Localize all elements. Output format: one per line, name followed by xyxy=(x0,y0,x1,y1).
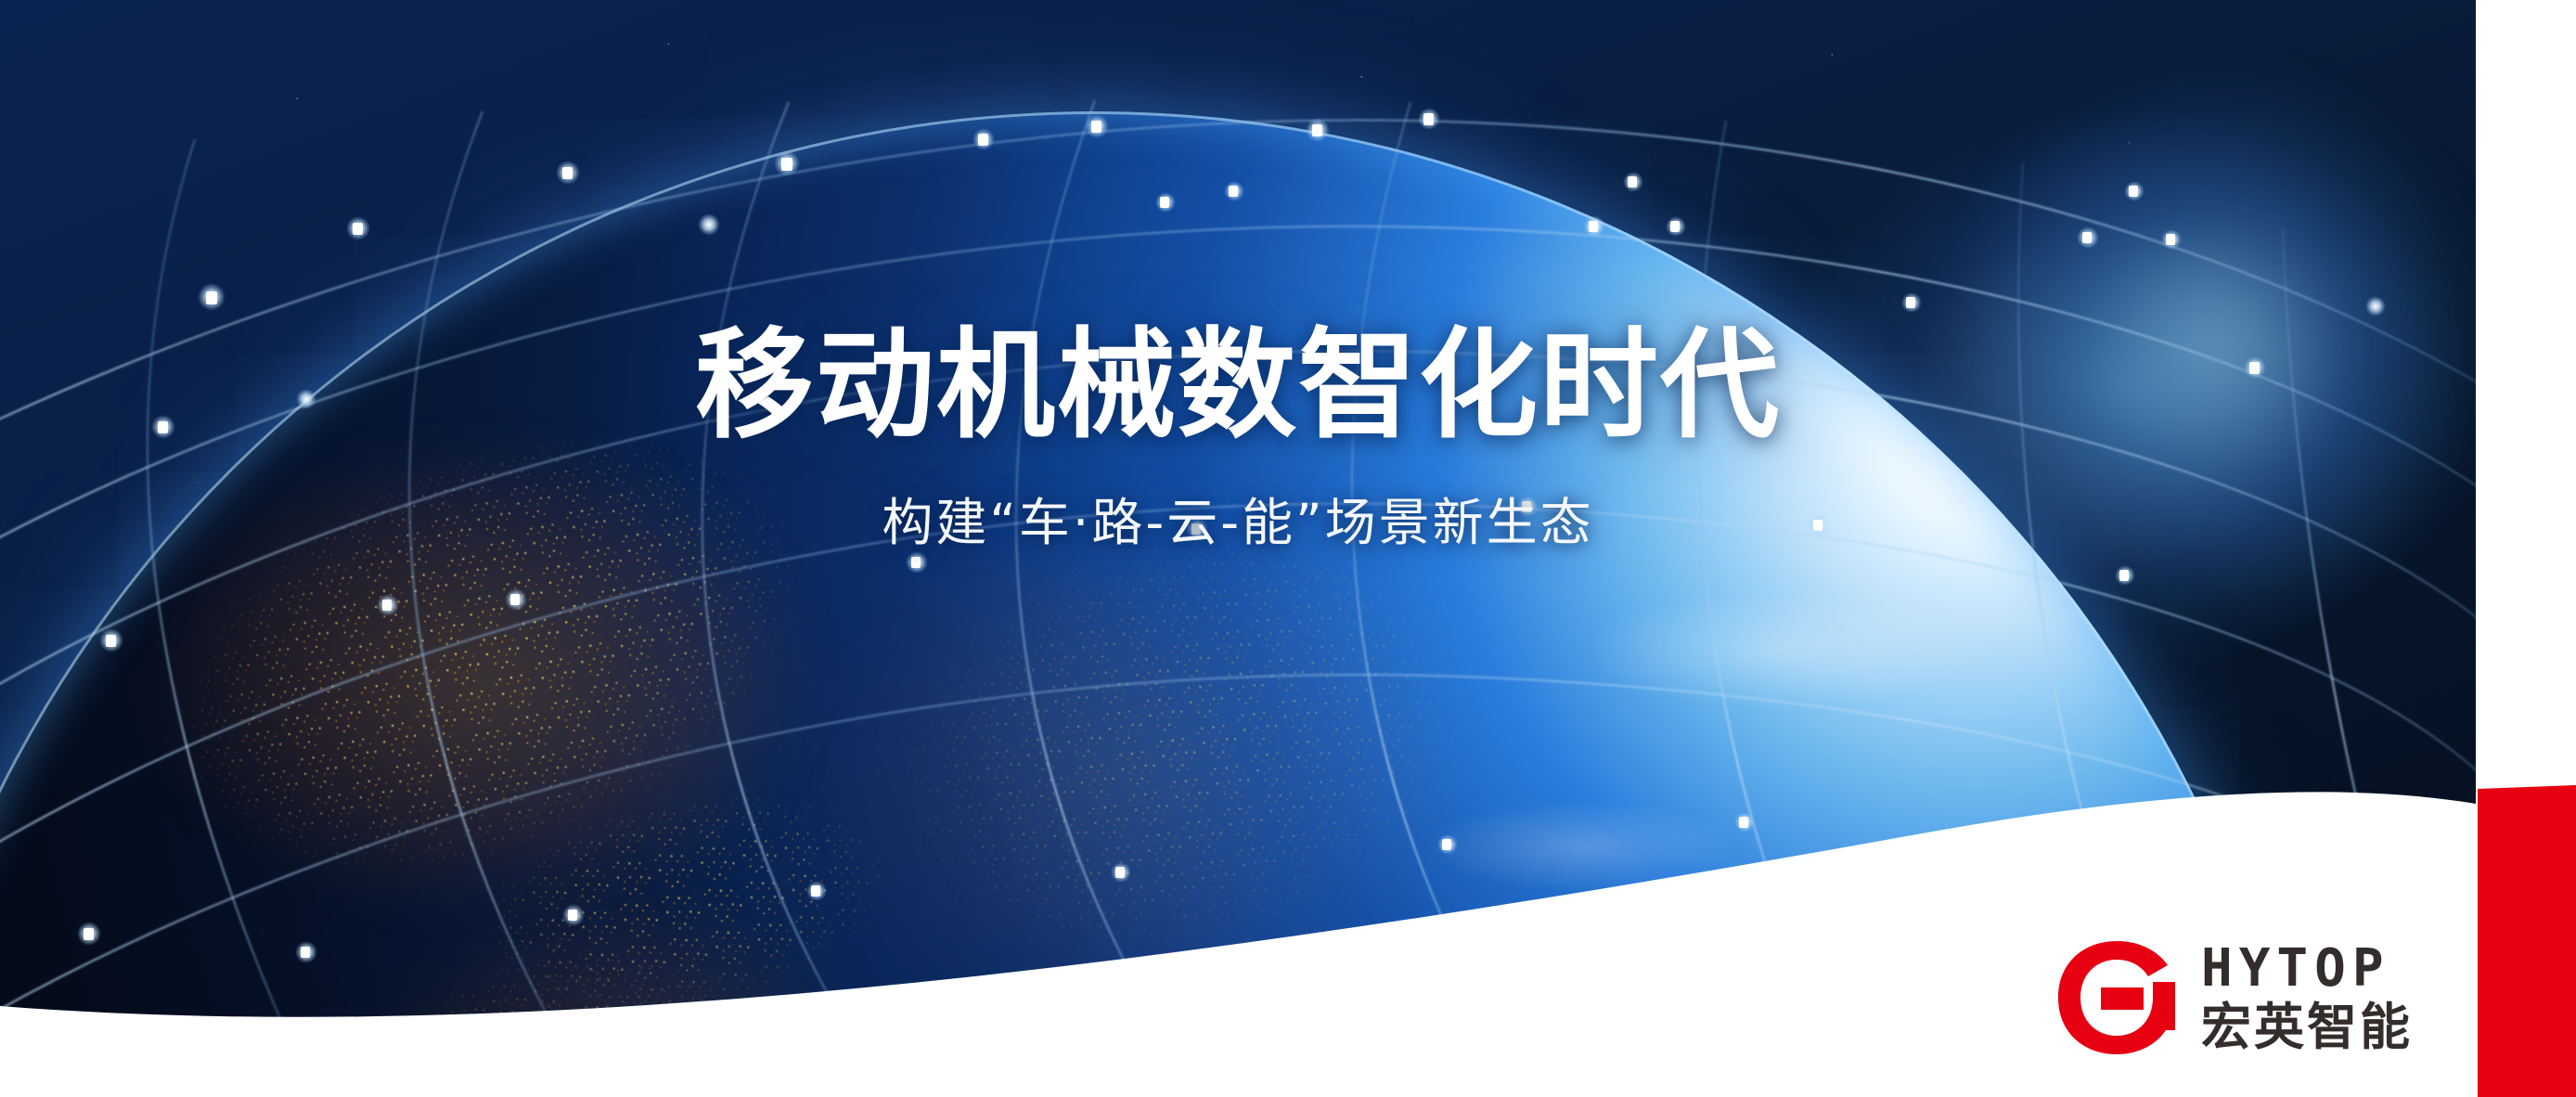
red-accent-bar xyxy=(2478,785,2576,1097)
logo-chinese-name: 宏英智能 xyxy=(2201,1002,2413,1052)
hytop-g-mark-icon xyxy=(2056,939,2177,1056)
logo-wordmark: HYTOP 宏英智能 xyxy=(2201,943,2413,1052)
logo-english-name: HYTOP xyxy=(2201,943,2413,995)
company-logo[interactable]: HYTOP 宏英智能 xyxy=(2056,939,2413,1056)
presentation-slide: 移动机械数智化时代 构建“车·路-云-能”场景新生态 HYTOP 宏英智能 xyxy=(0,0,2576,1097)
hero-space-background: 移动机械数智化时代 构建“车·路-云-能”场景新生态 xyxy=(0,0,2476,1097)
